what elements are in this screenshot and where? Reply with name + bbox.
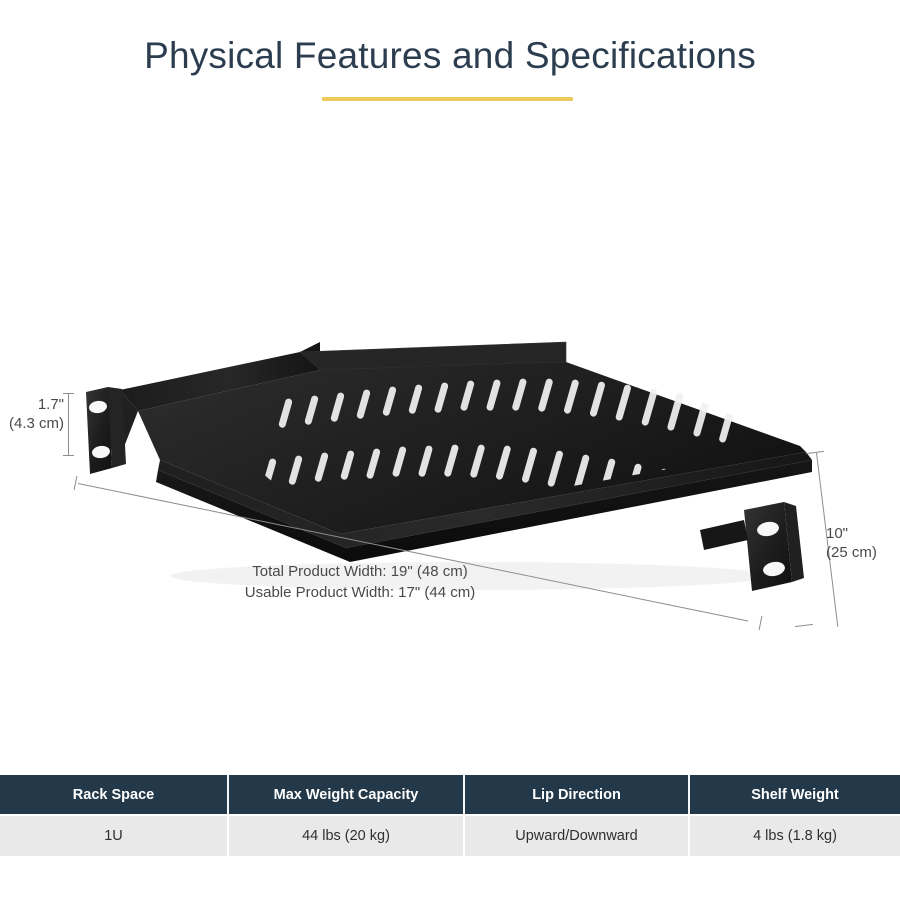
table-row: 1U 44 lbs (20 kg) Upward/Downward 4 lbs … [0,816,900,856]
height-dimension-cm: (4.3 cm) [8,414,64,433]
width-dimension-label: Total Product Width: 19" (48 cm) Usable … [150,561,570,603]
cell-rack-space: 1U [0,816,229,856]
depth-dimension-inches: 10" [826,524,877,543]
title-accent-bar [322,97,573,101]
page-title: Physical Features and Specifications [0,32,900,80]
table-header-row: Rack Space Max Weight Capacity Lip Direc… [0,775,900,814]
rack-shelf-image [0,130,900,765]
product-illustration-area: 1.7" (4.3 cm) 10" (25 cm) Total Product … [0,130,900,765]
height-dimension-label: 1.7" (4.3 cm) [8,395,64,433]
cell-lip-direction: Upward/Downward [465,816,690,856]
depth-dimension-cm: (25 cm) [826,543,877,562]
height-dimension-cap-top [63,393,74,394]
height-dimension-cap-bottom [63,455,74,456]
column-header-max-weight-capacity: Max Weight Capacity [229,775,465,814]
cell-max-weight-capacity: 44 lbs (20 kg) [229,816,465,856]
column-header-rack-space: Rack Space [0,775,229,814]
page-header: Physical Features and Specifications [0,0,900,130]
height-dimension-inches: 1.7" [8,395,64,414]
usable-width-label: Usable Product Width: 17" (44 cm) [150,582,570,603]
column-header-lip-direction: Lip Direction [465,775,690,814]
height-dimension-line [68,393,69,455]
specifications-table: Rack Space Max Weight Capacity Lip Direc… [0,775,900,856]
depth-dimension-label: 10" (25 cm) [826,524,877,562]
total-width-label: Total Product Width: 19" (48 cm) [150,561,570,582]
column-header-shelf-weight: Shelf Weight [690,775,900,814]
cell-shelf-weight: 4 lbs (1.8 kg) [690,816,900,856]
